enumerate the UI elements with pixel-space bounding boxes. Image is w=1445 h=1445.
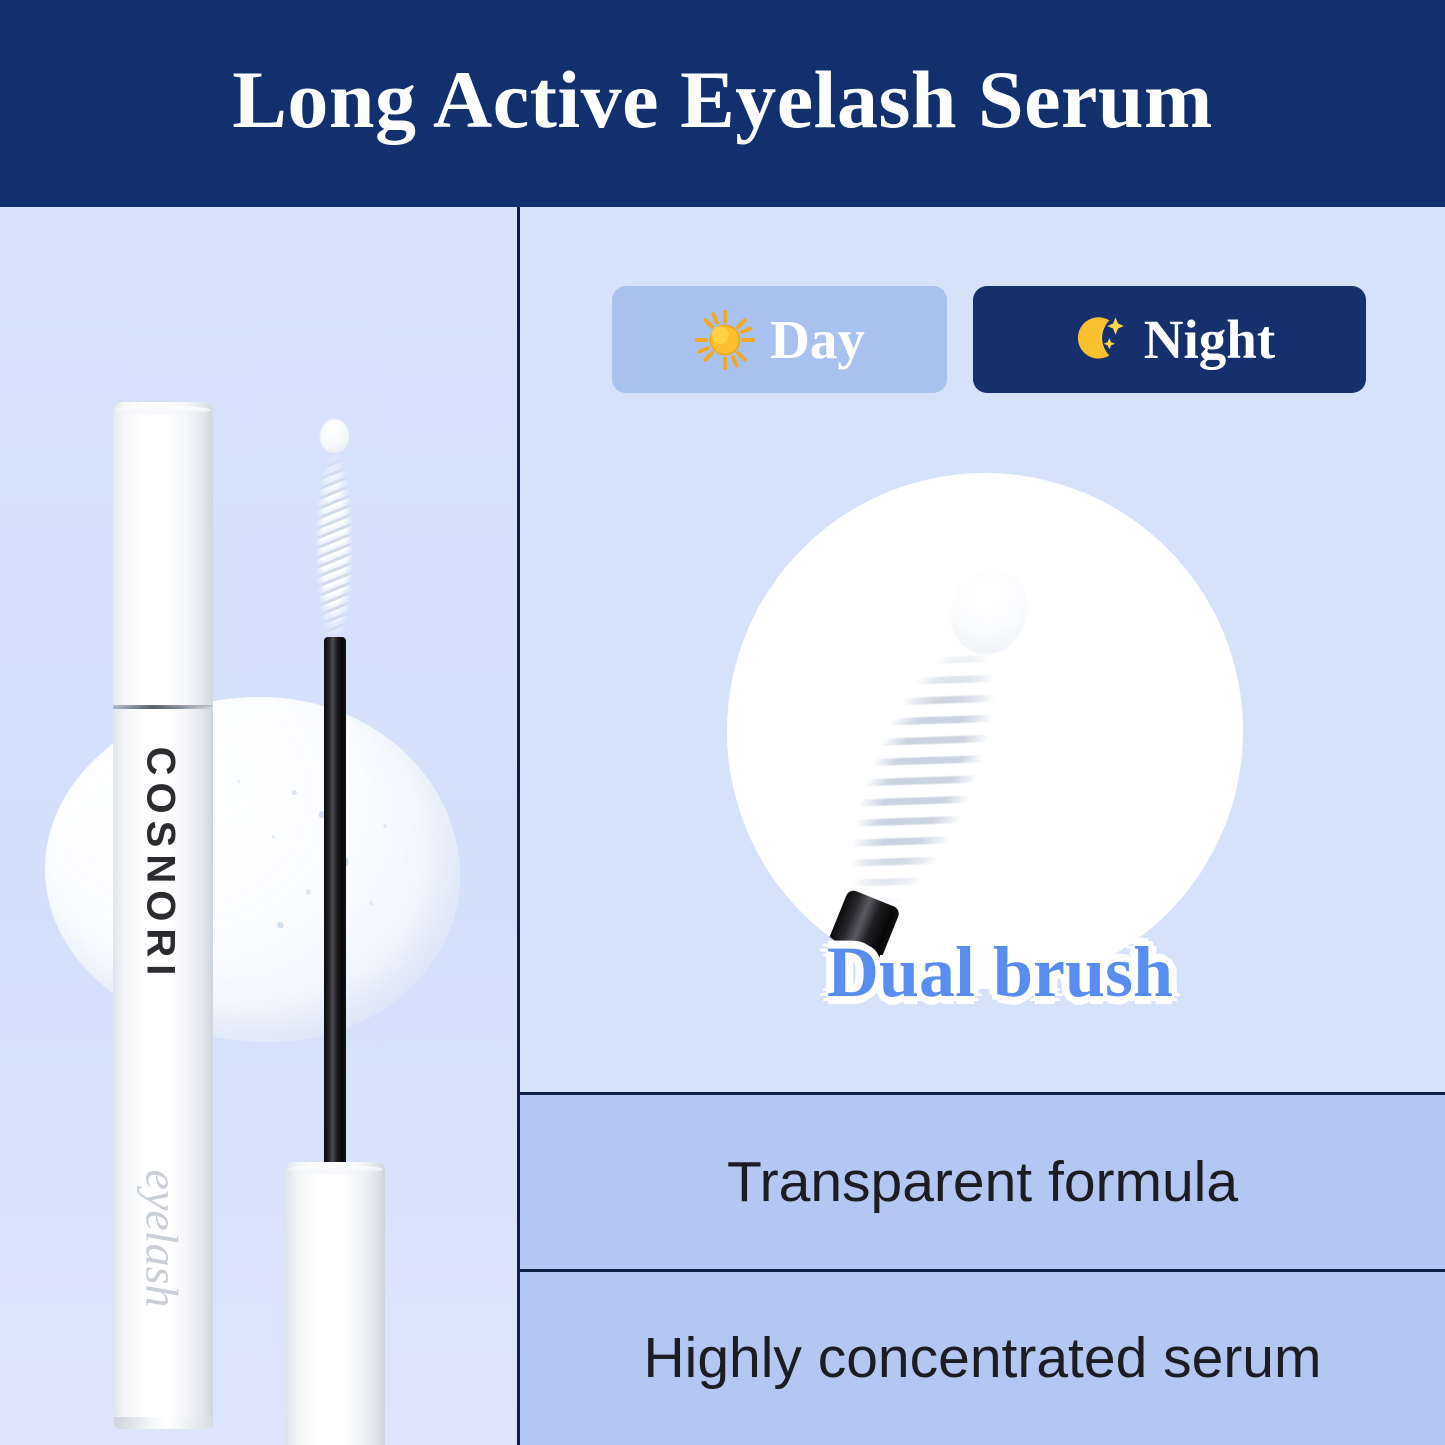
- feature-highlight-panel: Day Night Dual brush: [520, 207, 1445, 1092]
- product-infographic: Long Active Eyelash Serum COSNORI eyelas…: [0, 0, 1445, 1445]
- sun-icon: [694, 309, 756, 371]
- bottle-brand-label: COSNORI: [138, 700, 183, 1030]
- feature-panel-concentrated-serum: Highly concentrated serum: [520, 1272, 1445, 1445]
- usage-badges: Day Night: [612, 286, 1366, 393]
- brush-spiral-bristles: [820, 623, 1025, 931]
- serum-bottle: COSNORI eyelash: [113, 402, 213, 1445]
- brush-closeup-circle: [727, 473, 1243, 989]
- moon-icon: [1064, 307, 1130, 373]
- product-photo-panel: COSNORI eyelash: [0, 207, 517, 1445]
- feature-text: Transparent formula: [727, 1154, 1238, 1211]
- page-title: Long Active Eyelash Serum: [232, 59, 1213, 141]
- bottle-sub-label: eyelash: [136, 1124, 189, 1354]
- badge-day[interactable]: Day: [612, 286, 947, 393]
- bottle-cap: [113, 402, 213, 707]
- badge-night[interactable]: Night: [973, 286, 1366, 393]
- feature-panel-transparent-formula: Transparent formula: [520, 1095, 1445, 1269]
- bottle-base: [114, 1417, 212, 1429]
- badge-day-label: Day: [770, 312, 865, 367]
- wand-handle: [324, 637, 346, 1177]
- dual-brush-callout: Dual brush: [770, 936, 1230, 1008]
- applicator-wand: [312, 419, 354, 1179]
- wand-flock-tip: [320, 419, 349, 453]
- dual-brush-applicator: [775, 544, 1075, 989]
- vertical-divider: [517, 207, 520, 1445]
- wand-bristles: [316, 449, 353, 645]
- serum-gel-blob: [45, 697, 460, 1042]
- horizontal-divider-bottom: [520, 1269, 1445, 1272]
- horizontal-divider-top: [520, 1092, 1445, 1095]
- feature-text: Highly concentrated serum: [644, 1330, 1322, 1387]
- badge-night-label: Night: [1144, 312, 1275, 367]
- open-cap: [285, 1162, 385, 1445]
- header-banner: Long Active Eyelash Serum: [0, 0, 1445, 207]
